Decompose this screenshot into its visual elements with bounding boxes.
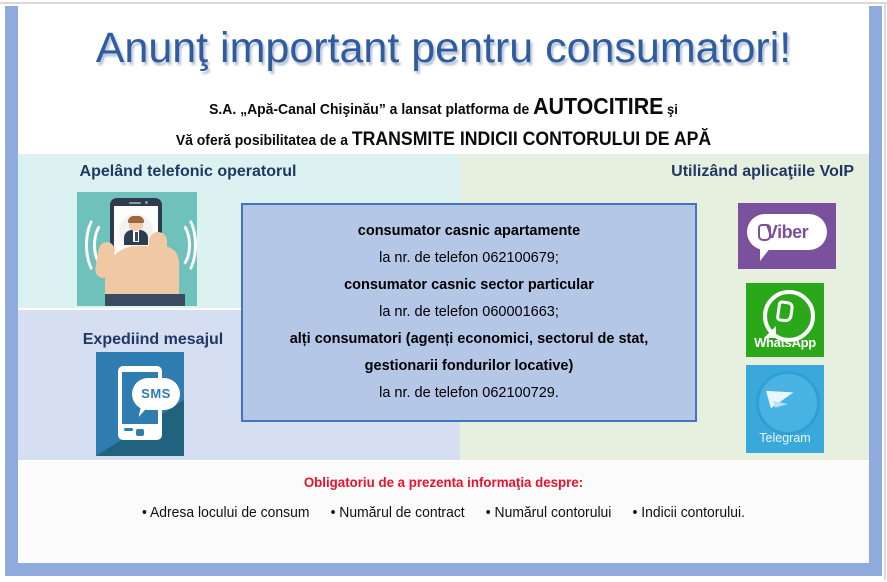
phone-call-icon — [77, 192, 197, 306]
telegram-app-tile[interactable]: Telegram — [746, 365, 824, 453]
sms-phone-speaker — [124, 428, 133, 431]
caller-tie — [135, 232, 138, 241]
list-item: • Numărul contorului — [486, 505, 612, 521]
infobox-line: consumator casnic sector particular — [243, 272, 695, 299]
list-item: • Indicii contorului. — [633, 505, 745, 521]
infobox-line: alți consumatori (agenți economici, sect… — [243, 326, 695, 353]
whatsapp-app-tile[interactable]: WhatsApp — [746, 283, 824, 357]
infobox-line: consumator casnic apartamente — [243, 218, 695, 245]
frame-left-bar — [5, 6, 18, 576]
viber-label: Viber — [747, 222, 827, 243]
frame-top-outline — [0, 2, 887, 4]
subtitle1-prefix: S.A. „Apă-Canal Chişinău” a lansat platf… — [209, 101, 533, 118]
infobox-line: la nr. de telefon 062100679; — [243, 245, 695, 272]
list-item: • Adresa locului de consum — [142, 505, 309, 521]
header-area: Anunţ important pentru consumatori! S.A.… — [18, 6, 869, 151]
frame-bottom-bar — [5, 563, 882, 576]
page-title: Anunţ important pentru consumatori! — [18, 24, 869, 73]
required-info-title: Obligatoriu de a prezenta informaţia des… — [39, 474, 847, 490]
caller-hair — [128, 216, 144, 223]
subtitle-line-1: S.A. „Apă-Canal Chişinău” a lansat platf… — [48, 93, 839, 120]
subtitle1-suffix: şi — [663, 101, 677, 117]
poster-canvas: Anunţ important pentru consumatori! S.A.… — [0, 0, 887, 582]
phone-camera — [145, 201, 148, 204]
phone-speaker — [129, 202, 141, 204]
voip-section-heading: Utilizând aplicaţiile VoIP — [600, 163, 870, 181]
phone-numbers-box: consumator casnic apartamente la nr. de … — [241, 203, 697, 422]
subtitle-line-2: Vă oferă posibilitatea de a TRANSMITE IN… — [48, 129, 839, 151]
list-item: • Numărul de contract — [331, 505, 465, 521]
subtitle1-emphasis: AUTOCITIRE — [533, 93, 663, 119]
sleeve-cuff — [105, 294, 185, 306]
viber-app-tile[interactable]: Viber — [738, 203, 836, 269]
infobox-line: la nr. de telefon 062100729. — [243, 380, 695, 407]
whatsapp-label: WhatsApp — [746, 335, 824, 350]
sms-phone-home-button — [136, 429, 144, 436]
infobox-line: gestionarii fondurilor locative) — [243, 353, 695, 380]
call-section-heading: Apelând telefonic operatorul — [38, 163, 338, 181]
subtitle2-emphasis: TRANSMITE INDICII CONTORULUI DE APĂ — [352, 129, 711, 150]
infobox-line: la nr. de telefon 060001663; — [243, 299, 695, 326]
whatsapp-handset-icon — [776, 301, 792, 321]
subtitle2-prefix: Vă oferă posibilitatea de a — [176, 132, 352, 149]
sms-icon: SMS — [96, 352, 184, 456]
required-info-list: • Adresa locului de consum • Numărul de … — [35, 505, 852, 521]
telegram-label: Telegram — [746, 431, 824, 445]
frame-right-outline — [884, 2, 886, 580]
frame-right-bar — [869, 6, 882, 576]
sms-bubble-label: SMS — [132, 386, 180, 401]
